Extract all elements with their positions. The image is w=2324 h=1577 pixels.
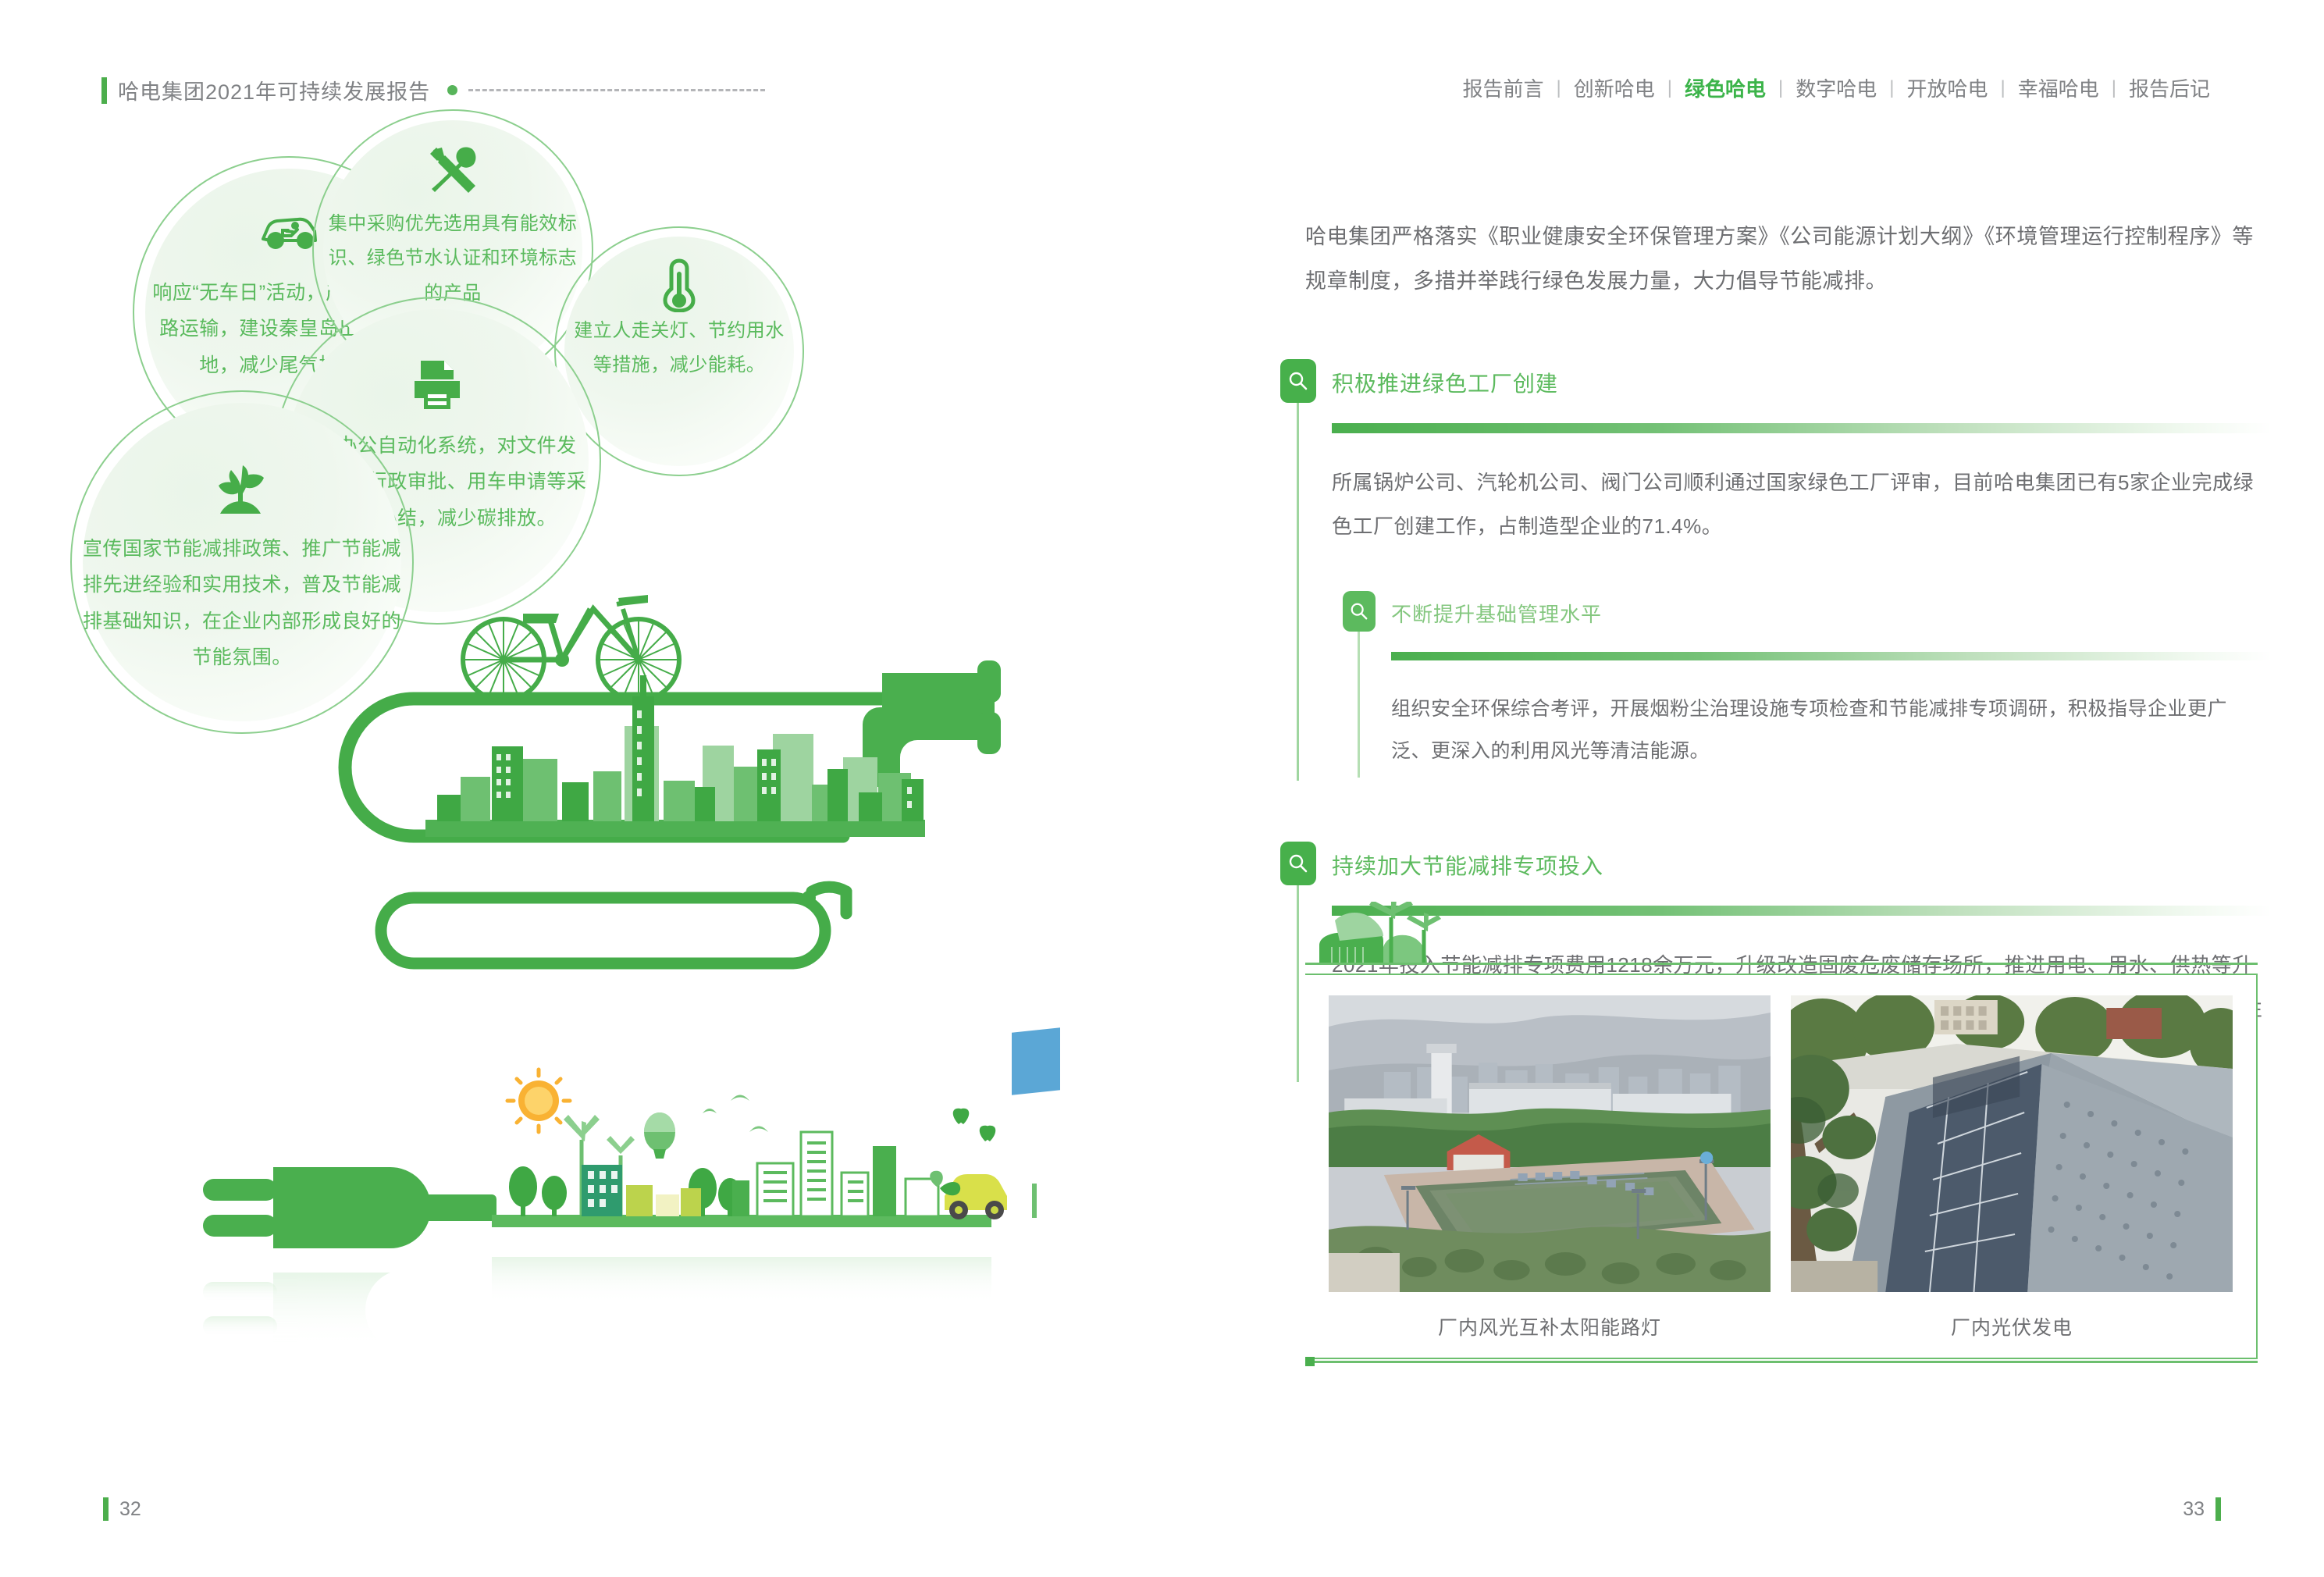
footer-accent-bar: [2215, 1497, 2221, 1521]
section-gradient-rule: [1332, 423, 2272, 433]
tools-icon: [312, 144, 593, 196]
section-body: 所属锅炉公司、汽轮机公司、阀门公司顺利通过国家绿色工厂评审，目前哈电集团已有5家…: [1332, 461, 2272, 549]
nav-item-open[interactable]: 开放哈电: [1894, 73, 2000, 102]
photo-cell: 厂内光伏发电: [1791, 995, 2233, 1340]
plug-icon: [203, 1167, 496, 1248]
section-management-level: 不断提升基础管理水平 组织安全环保综合考评，开展烟粉尘治理设施专项检查和节能减排…: [1343, 591, 2272, 773]
photo-block: 厂内风光互补太阳能路灯: [1305, 902, 2258, 1365]
nav-item-green[interactable]: 绿色哈电: [1672, 73, 1778, 102]
section-title: 不断提升基础管理水平: [1391, 591, 1602, 628]
page-title: 哈电集团2021年可持续发展报告: [118, 75, 430, 105]
rooftop-photovoltaic-panels-photo: [1791, 995, 2233, 1292]
header-dot-icon: [447, 85, 457, 95]
page-number-left: 32: [119, 1498, 141, 1521]
photo-caption-left: 厂内风光互补太阳能路灯: [1329, 1312, 1771, 1340]
footer-accent-bar: [103, 1497, 109, 1521]
nav-item-postscript[interactable]: 报告后记: [2116, 73, 2223, 102]
green-power-plug-illustration: [156, 586, 1077, 1382]
lead-paragraph: 哈电集团严格落实《职业健康安全环保管理方案》《公司能源计划大纲》《环境管理运行控…: [1305, 215, 2256, 303]
section-gradient-rule: [1391, 652, 2272, 660]
magnifier-icon: [1343, 591, 1376, 632]
green-office-infographic: 响应“无车日”活动，产品尽量铁路运输，建设秦皇岛出海口基地，减少尾气排放。: [47, 117, 1249, 1429]
footer-right: 33: [2183, 1497, 2221, 1521]
eco-city-illustration: [492, 1027, 1060, 1227]
section-nav[interactable]: 报告前言 | 创新哈电 | 绿色哈电 | 数字哈电 | 开放哈电 | 幸福哈电 …: [1450, 73, 2223, 102]
thermometer-icon: [554, 258, 804, 312]
section-rail: [1297, 885, 1299, 1083]
section-header: 持续加大节能减排专项投入: [1280, 842, 2272, 885]
nav-item-digital[interactable]: 数字哈电: [1783, 73, 1889, 102]
section-rail: [1297, 403, 1299, 780]
wind-turbine-dam-icon: [1305, 902, 2258, 974]
photo-frame: 厂内风光互补太阳能路灯: [1305, 974, 2258, 1359]
report-spread: 哈电集团2021年可持续发展报告 报告前言 | 创新哈电 | 绿色哈电 | 数字…: [0, 0, 2324, 1577]
factory-pond-solar-streetlamp-photo: [1329, 995, 1771, 1292]
section-rail: [1358, 632, 1360, 778]
photo-cell: 厂内风光互补太阳能路灯: [1329, 995, 1771, 1340]
header-accent-bar: [101, 77, 107, 104]
photo-frame-tail: [1305, 1358, 2258, 1365]
printer-icon: [273, 359, 601, 411]
footer-left: 32: [103, 1497, 141, 1521]
magnifier-icon: [1280, 359, 1316, 403]
header-title-group: 哈电集团2021年可持续发展报告: [101, 75, 765, 105]
section-header: 不断提升基础管理水平: [1343, 591, 2272, 632]
section-title: 积极推进绿色工厂创建: [1332, 359, 1558, 398]
page-number-right: 33: [2183, 1498, 2205, 1521]
bubble-tools-text: 集中采购优先选用具有能效标识、绿色节水认证和环境标志的产品: [312, 207, 593, 311]
right-page-content: 哈电集团严格落实《职业健康安全环保管理方案》《公司能源计划大纲》《环境管理运行控…: [1280, 117, 2272, 1444]
frame-end-square: [1305, 1357, 1315, 1366]
nav-item-preface[interactable]: 报告前言: [1450, 73, 1556, 102]
sprout-icon: [70, 459, 414, 520]
nav-item-innovation[interactable]: 创新哈电: [1561, 73, 1667, 102]
section-body: 组织安全环保综合考评，开展烟粉尘治理设施专项检查和节能减排专项调研，积极指导企业…: [1391, 689, 2272, 773]
section-green-factory: 积极推进绿色工厂创建 所属锅炉公司、汽轮机公司、阀门公司顺利通过国家绿色工厂评审…: [1280, 359, 2272, 772]
section-header: 积极推进绿色工厂创建: [1280, 359, 2272, 403]
header-dashed-rule: [468, 89, 765, 91]
photo-caption-right: 厂内光伏发电: [1791, 1312, 2233, 1340]
bicycle-icon: [463, 600, 679, 700]
frame-bottom-rule: [1315, 1361, 2258, 1363]
section-title: 持续加大节能减排专项投入: [1332, 842, 1603, 881]
magnifier-icon: [1280, 842, 1316, 885]
nav-item-happy[interactable]: 幸福哈电: [2005, 73, 2112, 102]
